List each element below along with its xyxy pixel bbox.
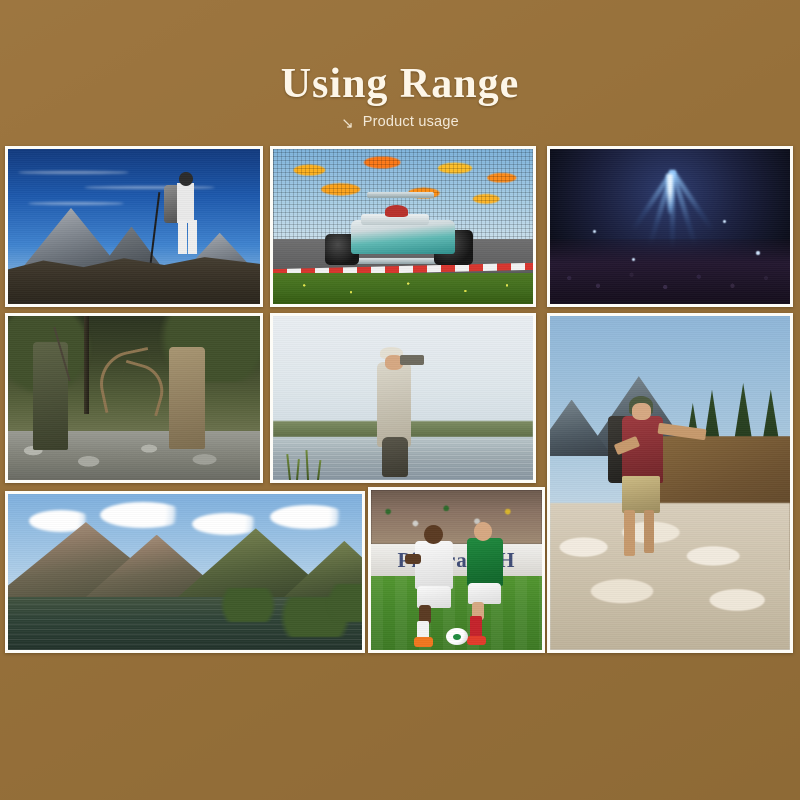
scene-motor-racing bbox=[273, 149, 533, 304]
usage-photo-gallery: PinBras EH bbox=[0, 0, 800, 800]
scene-soccer: PinBras EH bbox=[371, 490, 542, 650]
scene-river-crossing bbox=[550, 316, 790, 650]
photo-tile-soccer-match: PinBras EH bbox=[368, 487, 545, 653]
photo-tile-formula-one-racing bbox=[270, 146, 536, 307]
poster-background: Using Range ↘ Product usage bbox=[0, 0, 800, 800]
photo-tile-concert-stage-lights bbox=[547, 146, 793, 307]
photo-tile-river-crossing-hiker bbox=[547, 313, 793, 653]
scene-concert bbox=[550, 149, 790, 304]
scene-hunting bbox=[8, 316, 260, 480]
photo-tile-hunting-elk bbox=[5, 313, 263, 483]
scene-mountain-lake bbox=[8, 494, 362, 650]
scene-mountaineering bbox=[8, 149, 260, 304]
scene-bird-watching bbox=[273, 316, 533, 480]
photo-tile-mountaineering-hiking bbox=[5, 146, 263, 307]
photo-tile-mountain-lake bbox=[5, 491, 365, 653]
advertising-board: PinBras EH bbox=[371, 544, 542, 576]
photo-tile-bird-watching bbox=[270, 313, 536, 483]
